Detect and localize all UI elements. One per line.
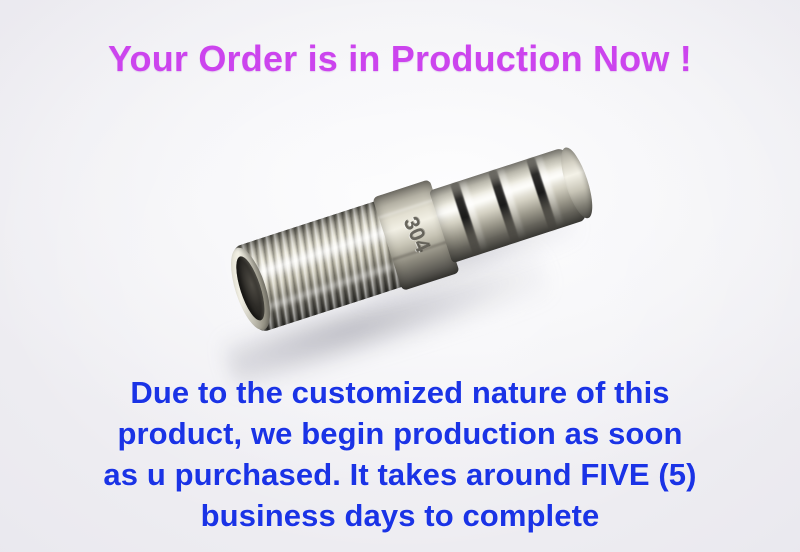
production-disclaimer: Due to the customized nature of this pro… (0, 372, 800, 536)
order-production-notice: Your Order is in Production Now ! 304 (0, 0, 800, 552)
product-image: 304 (200, 140, 620, 380)
disclaimer-line: Due to the customized nature of this (0, 372, 800, 413)
disclaimer-line: business days to complete (0, 495, 800, 536)
disclaimer-line: product, we begin production as soon (0, 413, 800, 454)
page-title: Your Order is in Production Now ! (0, 38, 800, 80)
disclaimer-line: as u purchased. It takes around FIVE (5) (0, 454, 800, 495)
